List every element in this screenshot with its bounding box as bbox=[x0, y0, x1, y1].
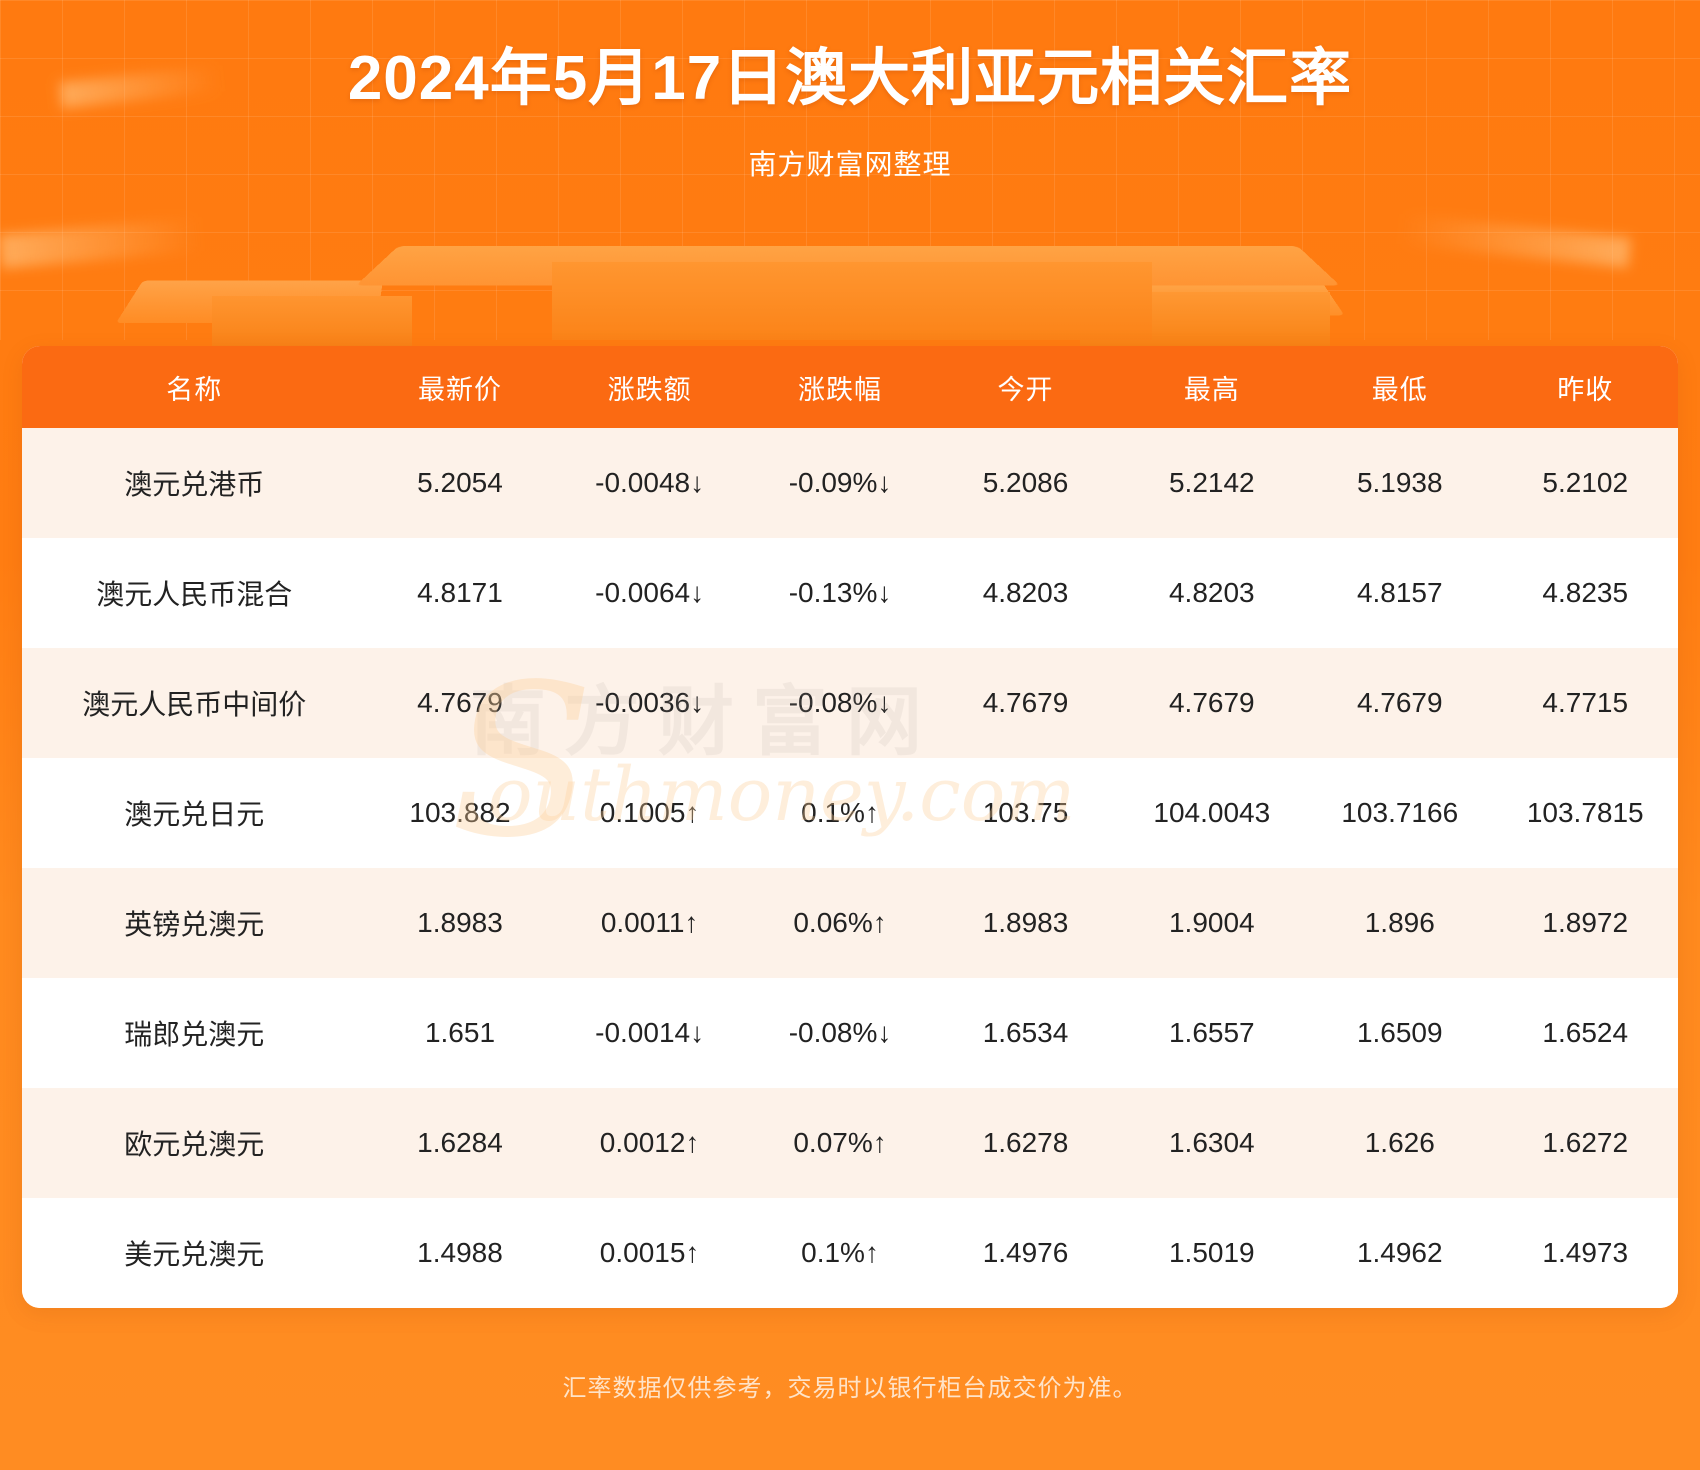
cell-name: 美元兑澳元 bbox=[22, 1198, 366, 1308]
cell-change: 0.0011↑ bbox=[554, 868, 746, 978]
exchange-rates-table: 名称最新价涨跌额涨跌幅今开最高最低昨收 澳元兑港币5.2054-0.0048↓-… bbox=[22, 346, 1678, 1308]
cell-change_pct: 0.1%↑ bbox=[746, 1198, 935, 1308]
column-header-last[interactable]: 最新价 bbox=[366, 346, 553, 428]
cell-change: -0.0048↓ bbox=[554, 428, 746, 538]
cell-low: 1.626 bbox=[1307, 1088, 1492, 1198]
cell-low: 1.896 bbox=[1307, 868, 1492, 978]
cell-change_pct: -0.13%↓ bbox=[746, 538, 935, 648]
column-header-low[interactable]: 最低 bbox=[1307, 346, 1492, 428]
cell-name: 澳元人民币混合 bbox=[22, 538, 366, 648]
table-row[interactable]: 澳元人民币混合4.8171-0.0064↓-0.13%↓4.82034.8203… bbox=[22, 538, 1678, 648]
page-title: 2024年5月17日澳大利亚元相关汇率 bbox=[0, 44, 1700, 113]
column-header-high[interactable]: 最高 bbox=[1117, 346, 1307, 428]
cell-change: -0.0064↓ bbox=[554, 538, 746, 648]
cell-low: 4.8157 bbox=[1307, 538, 1492, 648]
cell-last: 5.2054 bbox=[366, 428, 553, 538]
cell-high: 4.7679 bbox=[1117, 648, 1307, 758]
cell-high: 4.8203 bbox=[1117, 538, 1307, 648]
table-row[interactable]: 瑞郎兑澳元1.651-0.0014↓-0.08%↓1.65341.65571.6… bbox=[22, 978, 1678, 1088]
cell-prev_close: 5.2102 bbox=[1493, 428, 1679, 538]
cell-name: 英镑兑澳元 bbox=[22, 868, 366, 978]
cell-low: 1.4962 bbox=[1307, 1198, 1492, 1308]
table-header-row: 名称最新价涨跌额涨跌幅今开最高最低昨收 bbox=[22, 346, 1678, 428]
column-header-change[interactable]: 涨跌额 bbox=[554, 346, 746, 428]
page-subtitle: 南方财富网整理 bbox=[0, 143, 1700, 183]
table-row[interactable]: 美元兑澳元1.49880.0015↑0.1%↑1.49761.50191.496… bbox=[22, 1198, 1678, 1308]
table-row[interactable]: 澳元兑港币5.2054-0.0048↓-0.09%↓5.20865.21425.… bbox=[22, 428, 1678, 538]
cell-last: 1.6284 bbox=[366, 1088, 553, 1198]
cell-change_pct: -0.08%↓ bbox=[746, 648, 935, 758]
cell-name: 澳元人民币中间价 bbox=[22, 648, 366, 758]
table-row[interactable]: 欧元兑澳元1.62840.0012↑0.07%↑1.62781.63041.62… bbox=[22, 1088, 1678, 1198]
cell-change_pct: 0.07%↑ bbox=[746, 1088, 935, 1198]
cell-last: 1.8983 bbox=[366, 868, 553, 978]
column-header-change_pct[interactable]: 涨跌幅 bbox=[746, 346, 935, 428]
cell-high: 1.6304 bbox=[1117, 1088, 1307, 1198]
cell-change: -0.0036↓ bbox=[554, 648, 746, 758]
table-row[interactable]: 澳元人民币中间价4.7679-0.0036↓-0.08%↓4.76794.767… bbox=[22, 648, 1678, 758]
cell-change: 0.1005↑ bbox=[554, 758, 746, 868]
table-row[interactable]: 澳元兑日元103.8820.1005↑0.1%↑103.75104.004310… bbox=[22, 758, 1678, 868]
cell-change_pct: 0.1%↑ bbox=[746, 758, 935, 868]
column-header-name[interactable]: 名称 bbox=[22, 346, 366, 428]
cell-name: 瑞郎兑澳元 bbox=[22, 978, 366, 1088]
cell-high: 1.5019 bbox=[1117, 1198, 1307, 1308]
cell-last: 1.651 bbox=[366, 978, 553, 1088]
footer-disclaimer: 汇率数据仅供参考，交易时以银行柜台成交价为准。 bbox=[0, 1368, 1700, 1403]
table-body: 澳元兑港币5.2054-0.0048↓-0.09%↓5.20865.21425.… bbox=[22, 428, 1678, 1308]
cell-high: 104.0043 bbox=[1117, 758, 1307, 868]
cell-low: 4.7679 bbox=[1307, 648, 1492, 758]
cell-prev_close: 103.7815 bbox=[1493, 758, 1679, 868]
cell-low: 1.6509 bbox=[1307, 978, 1492, 1088]
cell-high: 5.2142 bbox=[1117, 428, 1307, 538]
cell-change_pct: -0.08%↓ bbox=[746, 978, 935, 1088]
cell-name: 澳元兑港币 bbox=[22, 428, 366, 538]
cell-open: 4.8203 bbox=[934, 538, 1116, 648]
cell-name: 欧元兑澳元 bbox=[22, 1088, 366, 1198]
cell-prev_close: 1.4973 bbox=[1493, 1198, 1679, 1308]
cell-last: 103.882 bbox=[366, 758, 553, 868]
cell-change_pct: -0.09%↓ bbox=[746, 428, 935, 538]
cell-prev_close: 1.6524 bbox=[1493, 978, 1679, 1088]
cell-low: 103.7166 bbox=[1307, 758, 1492, 868]
cell-open: 1.4976 bbox=[934, 1198, 1116, 1308]
cell-prev_close: 1.8972 bbox=[1493, 868, 1679, 978]
cell-high: 1.9004 bbox=[1117, 868, 1307, 978]
cell-open: 1.6278 bbox=[934, 1088, 1116, 1198]
cell-low: 5.1938 bbox=[1307, 428, 1492, 538]
cell-open: 4.7679 bbox=[934, 648, 1116, 758]
cell-change: 0.0015↑ bbox=[554, 1198, 746, 1308]
column-header-open[interactable]: 今开 bbox=[934, 346, 1116, 428]
cell-open: 1.6534 bbox=[934, 978, 1116, 1088]
column-header-prev_close[interactable]: 昨收 bbox=[1493, 346, 1679, 428]
table-row[interactable]: 英镑兑澳元1.89830.0011↑0.06%↑1.89831.90041.89… bbox=[22, 868, 1678, 978]
cell-prev_close: 1.6272 bbox=[1493, 1088, 1679, 1198]
rates-card: 名称最新价涨跌额涨跌幅今开最高最低昨收 澳元兑港币5.2054-0.0048↓-… bbox=[22, 346, 1678, 1308]
cell-high: 1.6557 bbox=[1117, 978, 1307, 1088]
cell-last: 4.8171 bbox=[366, 538, 553, 648]
cell-open: 103.75 bbox=[934, 758, 1116, 868]
cell-open: 5.2086 bbox=[934, 428, 1116, 538]
cell-open: 1.8983 bbox=[934, 868, 1116, 978]
cell-change_pct: 0.06%↑ bbox=[746, 868, 935, 978]
cell-prev_close: 4.7715 bbox=[1493, 648, 1679, 758]
cell-change: -0.0014↓ bbox=[554, 978, 746, 1088]
cell-prev_close: 4.8235 bbox=[1493, 538, 1679, 648]
hero-section: 2024年5月17日澳大利亚元相关汇率 南方财富网整理 bbox=[0, 0, 1700, 183]
cell-name: 澳元兑日元 bbox=[22, 758, 366, 868]
table-header: 名称最新价涨跌额涨跌幅今开最高最低昨收 bbox=[22, 346, 1678, 428]
cell-last: 1.4988 bbox=[366, 1198, 553, 1308]
cell-last: 4.7679 bbox=[366, 648, 553, 758]
cell-change: 0.0012↑ bbox=[554, 1088, 746, 1198]
